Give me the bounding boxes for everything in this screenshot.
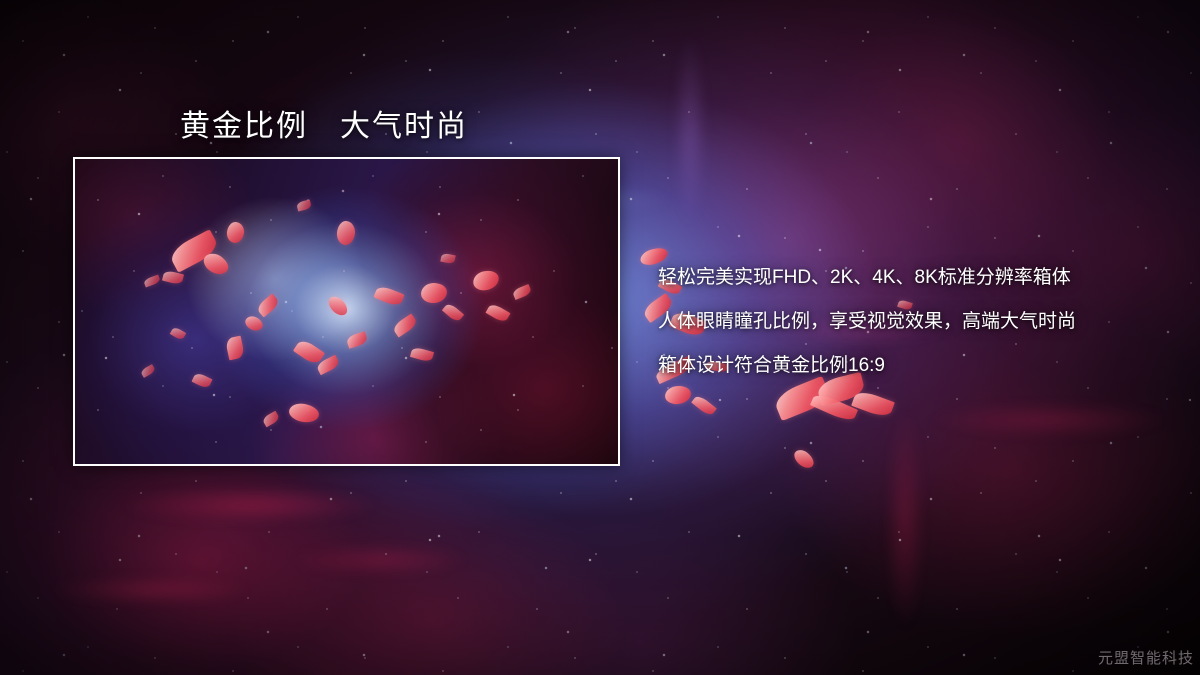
petal [226, 221, 246, 244]
petal [296, 199, 312, 211]
petal [336, 220, 356, 245]
petal [200, 250, 232, 279]
petal [255, 293, 280, 317]
petal [288, 402, 321, 425]
petal [140, 364, 156, 378]
petal [262, 411, 281, 428]
petal [170, 326, 187, 341]
petal [410, 346, 434, 363]
description-line-3: 箱体设计符合黄金比例16:9 [658, 344, 1178, 388]
petal [485, 302, 510, 323]
petal [167, 229, 221, 273]
petal [373, 284, 404, 307]
display-panel-image [75, 159, 618, 464]
petal [851, 389, 895, 420]
petal [471, 268, 501, 293]
panel-starfield-medium [75, 159, 618, 464]
petal [440, 253, 456, 265]
petal [420, 282, 448, 305]
presentation-slide: 黄金比例 大气时尚 轻松完美实现FHD、2K、4K、8K标准分辨率箱体 人体眼睛… [0, 0, 1200, 675]
petal [691, 394, 717, 417]
description-line-1: 轻松完美实现FHD、2K、4K、8K标准分辨率箱体 [658, 256, 1178, 300]
petal [191, 372, 212, 390]
panel-starfield-small [75, 159, 618, 464]
feature-description: 轻松完美实现FHD、2K、4K、8K标准分辨率箱体 人体眼睛瞳孔比例，享受视觉效… [658, 256, 1178, 388]
petal [243, 314, 265, 333]
display-panel-frame[interactable] [73, 157, 620, 466]
petal [442, 302, 464, 323]
page-title: 黄金比例 大气时尚 [180, 101, 468, 145]
petal [391, 313, 418, 337]
petal [162, 270, 184, 286]
petal [512, 284, 532, 300]
description-line-2: 人体眼睛瞳孔比例，享受视觉效果，高端大气时尚 [658, 300, 1178, 344]
panel-petals [75, 159, 618, 464]
petal [225, 336, 245, 361]
petal [315, 355, 340, 375]
petal [293, 338, 325, 367]
company-watermark: 元盟智能科技 [1098, 647, 1194, 668]
petal [810, 391, 858, 423]
petal [346, 331, 369, 349]
petal [791, 447, 817, 472]
petal [143, 275, 161, 288]
petal [325, 293, 350, 319]
